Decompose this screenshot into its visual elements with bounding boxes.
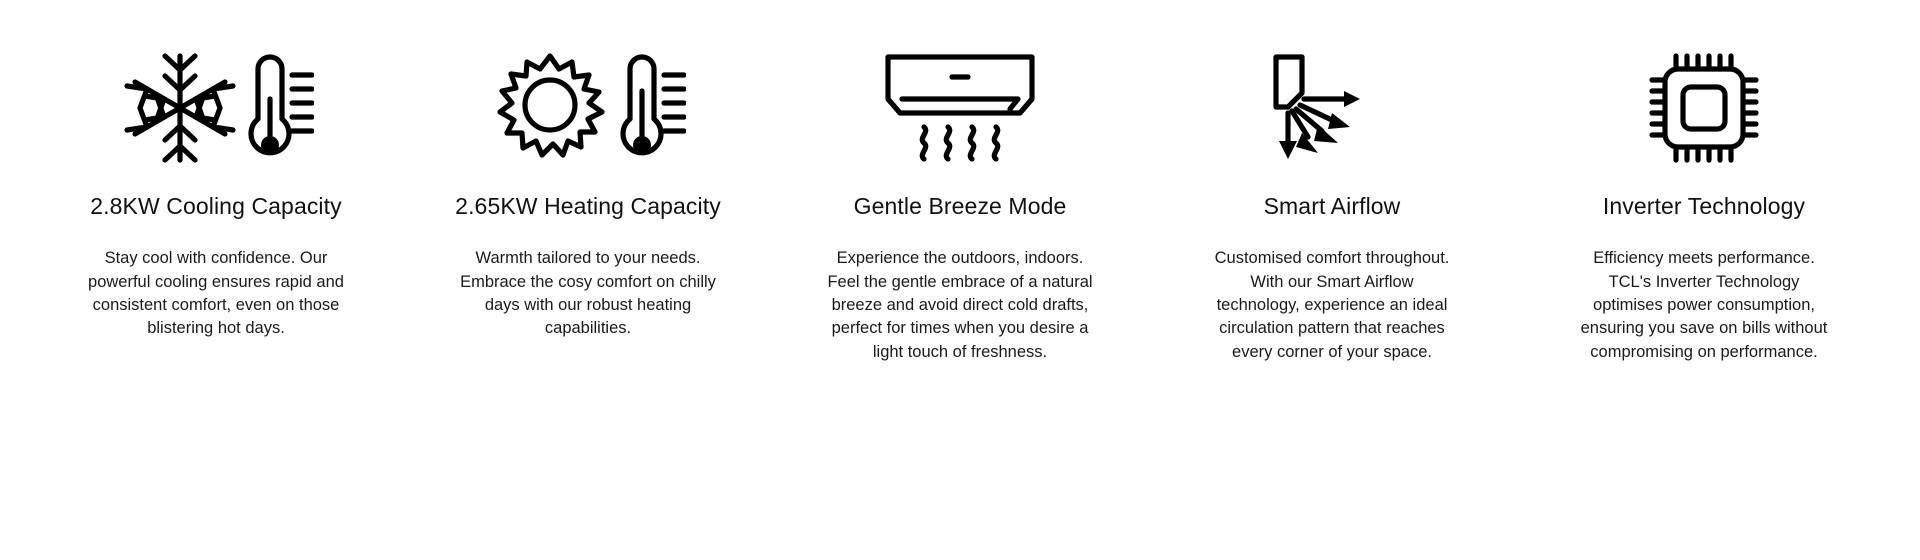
snowflake-thermometer-icon — [118, 40, 314, 175]
feature-description: Stay cool with confidence. Our powerful … — [82, 247, 350, 341]
feature-item-inverter: Inverter Technology Efficiency meets per… — [1518, 40, 1890, 364]
feature-item-gentle-breeze: Gentle Breeze Mode Experience the outdoo… — [774, 40, 1146, 364]
feature-title: 2.65KW Heating Capacity — [455, 193, 721, 219]
sun-thermometer-icon — [490, 40, 686, 175]
feature-description: Efficiency meets performance. TCL's Inve… — [1580, 247, 1828, 364]
feature-title: 2.8KW Cooling Capacity — [90, 193, 341, 219]
air-conditioner-breeze-icon — [880, 40, 1040, 175]
feature-list: 2.8KW Cooling Capacity Stay cool with co… — [0, 0, 1920, 560]
feature-description: Customised comfort throughout. With our … — [1208, 247, 1456, 364]
smart-airflow-arrows-icon — [1262, 40, 1402, 175]
feature-item-cooling: 2.8KW Cooling Capacity Stay cool with co… — [30, 40, 402, 341]
feature-description: Warmth tailored to your needs. Embrace t… — [454, 247, 722, 341]
feature-item-heating: 2.65KW Heating Capacity Warmth tailored … — [402, 40, 774, 341]
feature-description: Experience the outdoors, indoors. Feel t… — [826, 247, 1094, 364]
feature-title: Smart Airflow — [1264, 193, 1401, 219]
feature-title: Gentle Breeze Mode — [854, 193, 1067, 219]
feature-title: Inverter Technology — [1603, 193, 1805, 219]
inverter-chip-icon — [1645, 40, 1763, 175]
feature-item-smart-airflow: Smart Airflow Customised comfort through… — [1146, 40, 1518, 364]
